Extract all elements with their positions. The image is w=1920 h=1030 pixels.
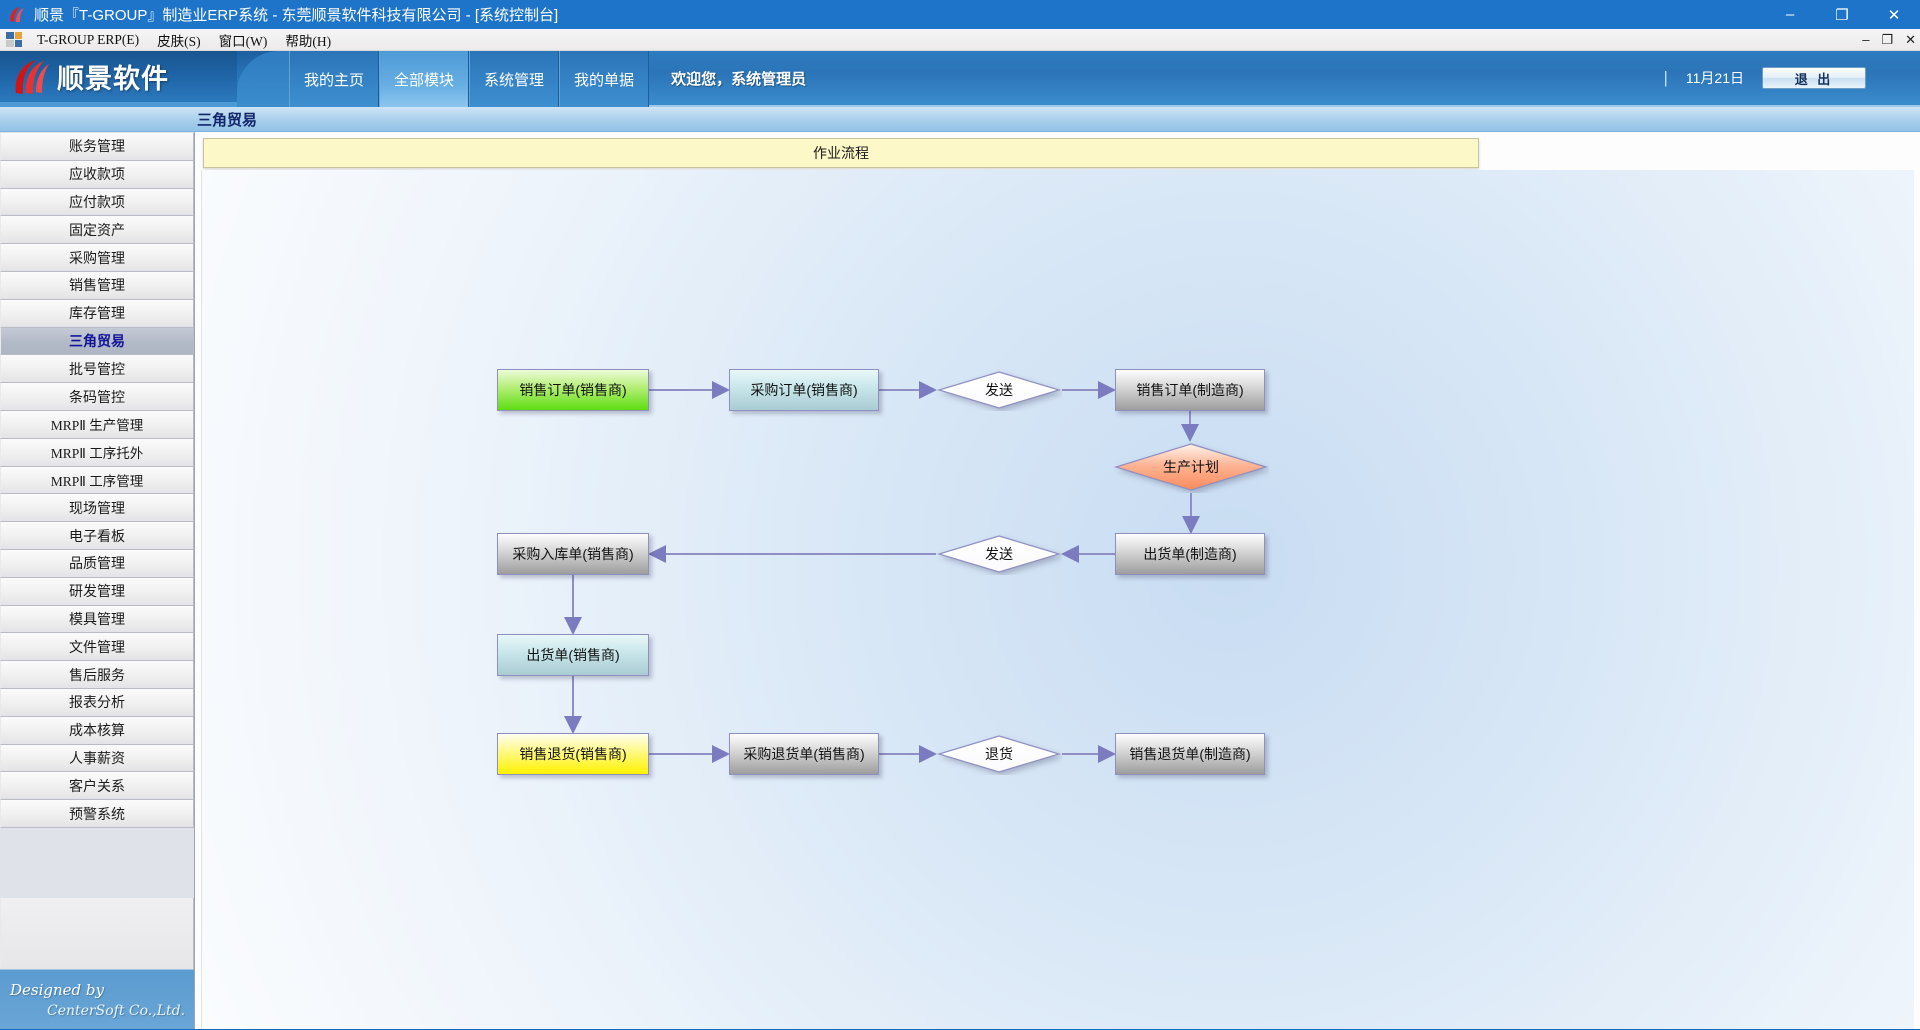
os-title-text: 顺景『T-GROUP』制造业ERP系统 - 东莞顺景软件科技有限公司 - [系统…: [34, 4, 558, 25]
sidebar-item-label: MRPⅡ 工序托外: [51, 442, 144, 462]
sidebar-item-6[interactable]: 库存管理: [0, 300, 194, 328]
sidebar-item-label: 库存管理: [69, 303, 125, 323]
flow-node-label: 采购订单(销售商): [750, 380, 857, 400]
os-title-bar: 顺景『T-GROUP』制造业ERP系统 - 东莞顺景软件科技有限公司 - [系统…: [0, 0, 1920, 29]
sidebar-item-0[interactable]: 账务管理: [0, 133, 194, 161]
module-sidebar: 账务管理应收款项应付款项固定资产采购管理销售管理库存管理三角贸易批号管控条码管控…: [0, 132, 195, 1029]
tab-my-documents[interactable]: 我的单据: [559, 51, 649, 107]
flow-node-label: 出货单(销售商): [526, 645, 619, 665]
sidebar-item-2[interactable]: 应付款项: [0, 189, 194, 217]
app-logo-icon: [6, 5, 28, 25]
flow-node-label: 采购退货单(销售商): [743, 744, 864, 764]
sidebar-item-9[interactable]: 条码管控: [0, 383, 194, 411]
flow-node-n5[interactable]: 生产计划: [1113, 441, 1269, 493]
sidebar-item-label: 批号管控: [69, 359, 125, 379]
body-wrapper: 账务管理应收款项应付款项固定资产采购管理销售管理库存管理三角贸易批号管控条码管控…: [0, 132, 1920, 1029]
sidebar-item-7[interactable]: 三角贸易: [0, 328, 194, 356]
sidebar-item-label: MRPⅡ 工序管理: [51, 470, 144, 490]
sidebar-item-label: 三角贸易: [69, 331, 125, 351]
sidebar-item-18[interactable]: 文件管理: [0, 633, 194, 661]
brand-curve-decoration: [237, 51, 289, 107]
diamond-shape-icon: [936, 369, 1062, 411]
sidebar-item-23[interactable]: 客户关系: [0, 772, 194, 800]
sidebar-item-label: 账务管理: [69, 136, 125, 156]
flow-node-label: 销售订单(制造商): [1136, 380, 1243, 400]
logout-button[interactable]: 退 出: [1762, 67, 1866, 89]
workflow-canvas-area: 作业流程 销售订单(销售商)采购订单(销售商)发送销售订单(制造商)生产计划出货…: [195, 132, 1920, 1029]
sidebar-item-16[interactable]: 研发管理: [0, 578, 194, 606]
sidebar-item-17[interactable]: 模具管理: [0, 606, 194, 634]
module-subheader: 三角贸易: [0, 107, 1920, 132]
sidebar-item-label: 电子看板: [69, 526, 125, 546]
sidebar-item-19[interactable]: 售后服务: [0, 661, 194, 689]
sidebar-item-label: 模具管理: [69, 609, 125, 629]
workflow-diagram[interactable]: 销售订单(销售商)采购订单(销售商)发送销售订单(制造商)生产计划出货单(制造商…: [201, 170, 1914, 1029]
flow-node-n10[interactable]: 销售退货(销售商): [497, 733, 649, 775]
workflow-banner: 作业流程: [203, 138, 1479, 168]
minimize-icon[interactable]: –: [1764, 0, 1816, 29]
flow-node-n1[interactable]: 销售订单(销售商): [497, 369, 649, 411]
sidebar-item-label: 采购管理: [69, 248, 125, 268]
tab-my-homepage[interactable]: 我的主页: [289, 51, 379, 107]
header-divider: |: [1663, 68, 1667, 88]
sidebar-item-21[interactable]: 成本核算: [0, 717, 194, 745]
flow-node-n3[interactable]: 发送: [936, 369, 1062, 411]
sidebar-item-label: 研发管理: [69, 581, 125, 601]
sidebar-item-label: 报表分析: [69, 692, 125, 712]
main-nav-tabs: 我的主页 全部模块 系统管理 我的单据: [289, 51, 649, 107]
tab-system-admin[interactable]: 系统管理: [469, 51, 559, 107]
sidebar-filler: [0, 898, 194, 969]
mdi-window-controls: – ❐ ✕: [1862, 32, 1916, 48]
menu-item-erp[interactable]: T-GROUP ERP(E): [28, 32, 148, 48]
diamond-shape-icon: [1113, 441, 1269, 493]
flow-node-label: 出货单(制造商): [1143, 544, 1236, 564]
flow-node-n8[interactable]: 采购入库单(销售商): [497, 533, 649, 575]
brand-name: 顺景软件: [57, 57, 169, 96]
sidebar-item-5[interactable]: 销售管理: [0, 272, 194, 300]
sidebar-item-12[interactable]: MRPⅡ 工序管理: [0, 467, 194, 495]
flow-node-n12[interactable]: 退货: [936, 733, 1062, 775]
flow-node-label: 采购入库单(销售商): [512, 544, 633, 564]
sidebar-item-label: 固定资产: [69, 220, 125, 240]
flow-node-n6[interactable]: 出货单(制造商): [1115, 533, 1265, 575]
diamond-shape-icon: [936, 533, 1062, 575]
sidebar-item-20[interactable]: 报表分析: [0, 689, 194, 717]
sidebar-credit: Designed by CenterSoft Co.,Ltd.: [0, 969, 194, 1029]
flow-node-label: 销售退货(销售商): [519, 744, 626, 764]
sidebar-item-label: 售后服务: [69, 665, 125, 685]
sidebar-item-4[interactable]: 采购管理: [0, 244, 194, 272]
sidebar-item-list: 账务管理应收款项应付款项固定资产采购管理销售管理库存管理三角贸易批号管控条码管控…: [0, 132, 194, 898]
tab-all-modules[interactable]: 全部模块: [379, 51, 469, 107]
page-title: 三角贸易: [197, 109, 257, 130]
sidebar-item-label: 品质管理: [69, 553, 125, 573]
sidebar-item-1[interactable]: 应收款项: [0, 161, 194, 189]
menu-item-window[interactable]: 窗口(W): [210, 30, 277, 50]
flow-node-n7[interactable]: 发送: [936, 533, 1062, 575]
header-right-zone: | 11月21日 退 出: [1663, 51, 1920, 105]
sidebar-item-3[interactable]: 固定资产: [0, 216, 194, 244]
sidebar-item-15[interactable]: 品质管理: [0, 550, 194, 578]
sidebar-item-13[interactable]: 现场管理: [0, 494, 194, 522]
credit-company: CenterSoft Co.,Ltd.: [47, 1003, 185, 1019]
welcome-message: 欢迎您，系统管理员: [649, 51, 828, 105]
header-date: 11月21日: [1686, 68, 1744, 88]
flow-node-label: 销售退货单(制造商): [1129, 744, 1250, 764]
menu-item-help[interactable]: 帮助(H): [276, 30, 340, 50]
flow-node-n2[interactable]: 采购订单(销售商): [729, 369, 879, 411]
sidebar-item-22[interactable]: 人事薪资: [0, 745, 194, 773]
sidebar-item-label: MRPⅡ 生产管理: [51, 414, 144, 434]
shunjing-swoosh-icon: [12, 59, 50, 95]
flow-node-label: 销售订单(销售商): [519, 380, 626, 400]
sidebar-item-label: 预警系统: [69, 804, 125, 824]
menu-item-skin[interactable]: 皮肤(S): [148, 30, 210, 50]
sidebar-item-14[interactable]: 电子看板: [0, 522, 194, 550]
diamond-shape-icon: [936, 733, 1062, 775]
maximize-icon[interactable]: ❐: [1816, 0, 1868, 29]
sidebar-item-label: 成本核算: [69, 720, 125, 740]
mdi-minimize-icon[interactable]: –: [1862, 32, 1869, 48]
sidebar-item-label: 条码管控: [69, 387, 125, 407]
sidebar-item-label: 应付款项: [69, 192, 125, 212]
brand-header: 顺景软件 我的主页 全部模块 系统管理 我的单据 欢迎您，系统管理员 | 11月…: [0, 51, 1920, 107]
mdi-restore-icon[interactable]: ❐: [1881, 32, 1893, 48]
sidebar-item-label: 应收款项: [69, 164, 125, 184]
flow-node-n13[interactable]: 销售退货单(制造商): [1115, 733, 1265, 775]
windows-app-icon: [6, 32, 22, 47]
sidebar-item-8[interactable]: 批号管控: [0, 355, 194, 383]
sidebar-item-label: 销售管理: [69, 275, 125, 295]
flow-node-n11[interactable]: 采购退货单(销售商): [729, 733, 879, 775]
sidebar-item-label: 现场管理: [69, 498, 125, 518]
flow-node-n9[interactable]: 出货单(销售商): [497, 634, 649, 676]
sidebar-item-label: 文件管理: [69, 637, 125, 657]
credit-designed-by: Designed by: [10, 981, 104, 999]
brand-logo-zone: 顺景软件: [0, 51, 237, 107]
sidebar-item-label: 人事薪资: [69, 748, 125, 768]
close-icon[interactable]: ✕: [1868, 0, 1920, 29]
sidebar-item-10[interactable]: MRPⅡ 生产管理: [0, 411, 194, 439]
window-controls: – ❐ ✕: [1764, 0, 1920, 29]
flow-node-n4[interactable]: 销售订单(制造商): [1115, 369, 1265, 411]
mdi-close-icon[interactable]: ✕: [1905, 32, 1916, 48]
edge-layer: [202, 170, 1602, 930]
sidebar-item-label: 客户关系: [69, 776, 125, 796]
application-menu-bar: T-GROUP ERP(E) 皮肤(S) 窗口(W) 帮助(H) – ❐ ✕: [0, 29, 1920, 51]
sidebar-item-24[interactable]: 预警系统: [0, 800, 194, 828]
sidebar-item-11[interactable]: MRPⅡ 工序托外: [0, 439, 194, 467]
